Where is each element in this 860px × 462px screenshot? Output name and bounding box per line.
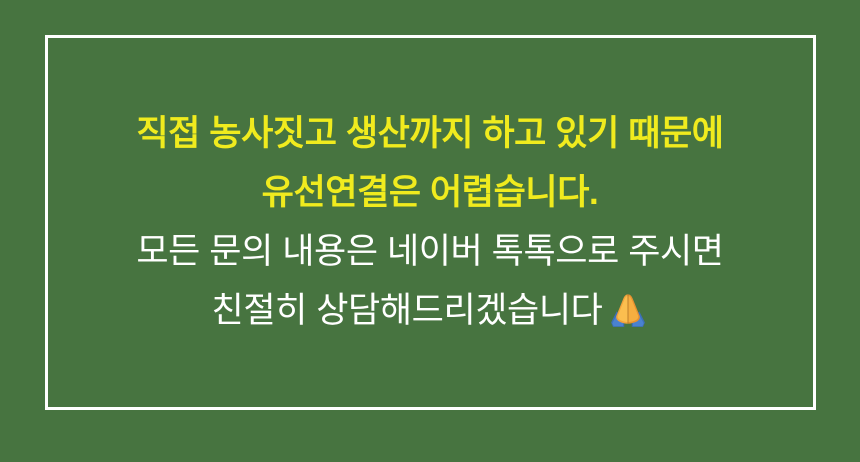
notice-line-2: 유선연결은 어렵습니다. xyxy=(0,163,860,222)
notice-banner: 직접 농사짓고 생산까지 하고 있기 때문에 유선연결은 어렵습니다. 모든 문… xyxy=(0,0,860,462)
notice-message-block: 직접 농사짓고 생산까지 하고 있기 때문에 유선연결은 어렵습니다. 모든 문… xyxy=(0,104,860,340)
notice-line-4-text: 친절히 상담해드리겠습니다 xyxy=(212,291,603,330)
notice-line-4: 친절히 상담해드리겠습니다 xyxy=(0,281,860,340)
folded-hands-icon xyxy=(608,290,648,330)
notice-line-3: 모든 문의 내용은 네이버 톡톡으로 주시면 xyxy=(0,222,860,281)
notice-line-1: 직접 농사짓고 생산까지 하고 있기 때문에 xyxy=(0,104,860,163)
